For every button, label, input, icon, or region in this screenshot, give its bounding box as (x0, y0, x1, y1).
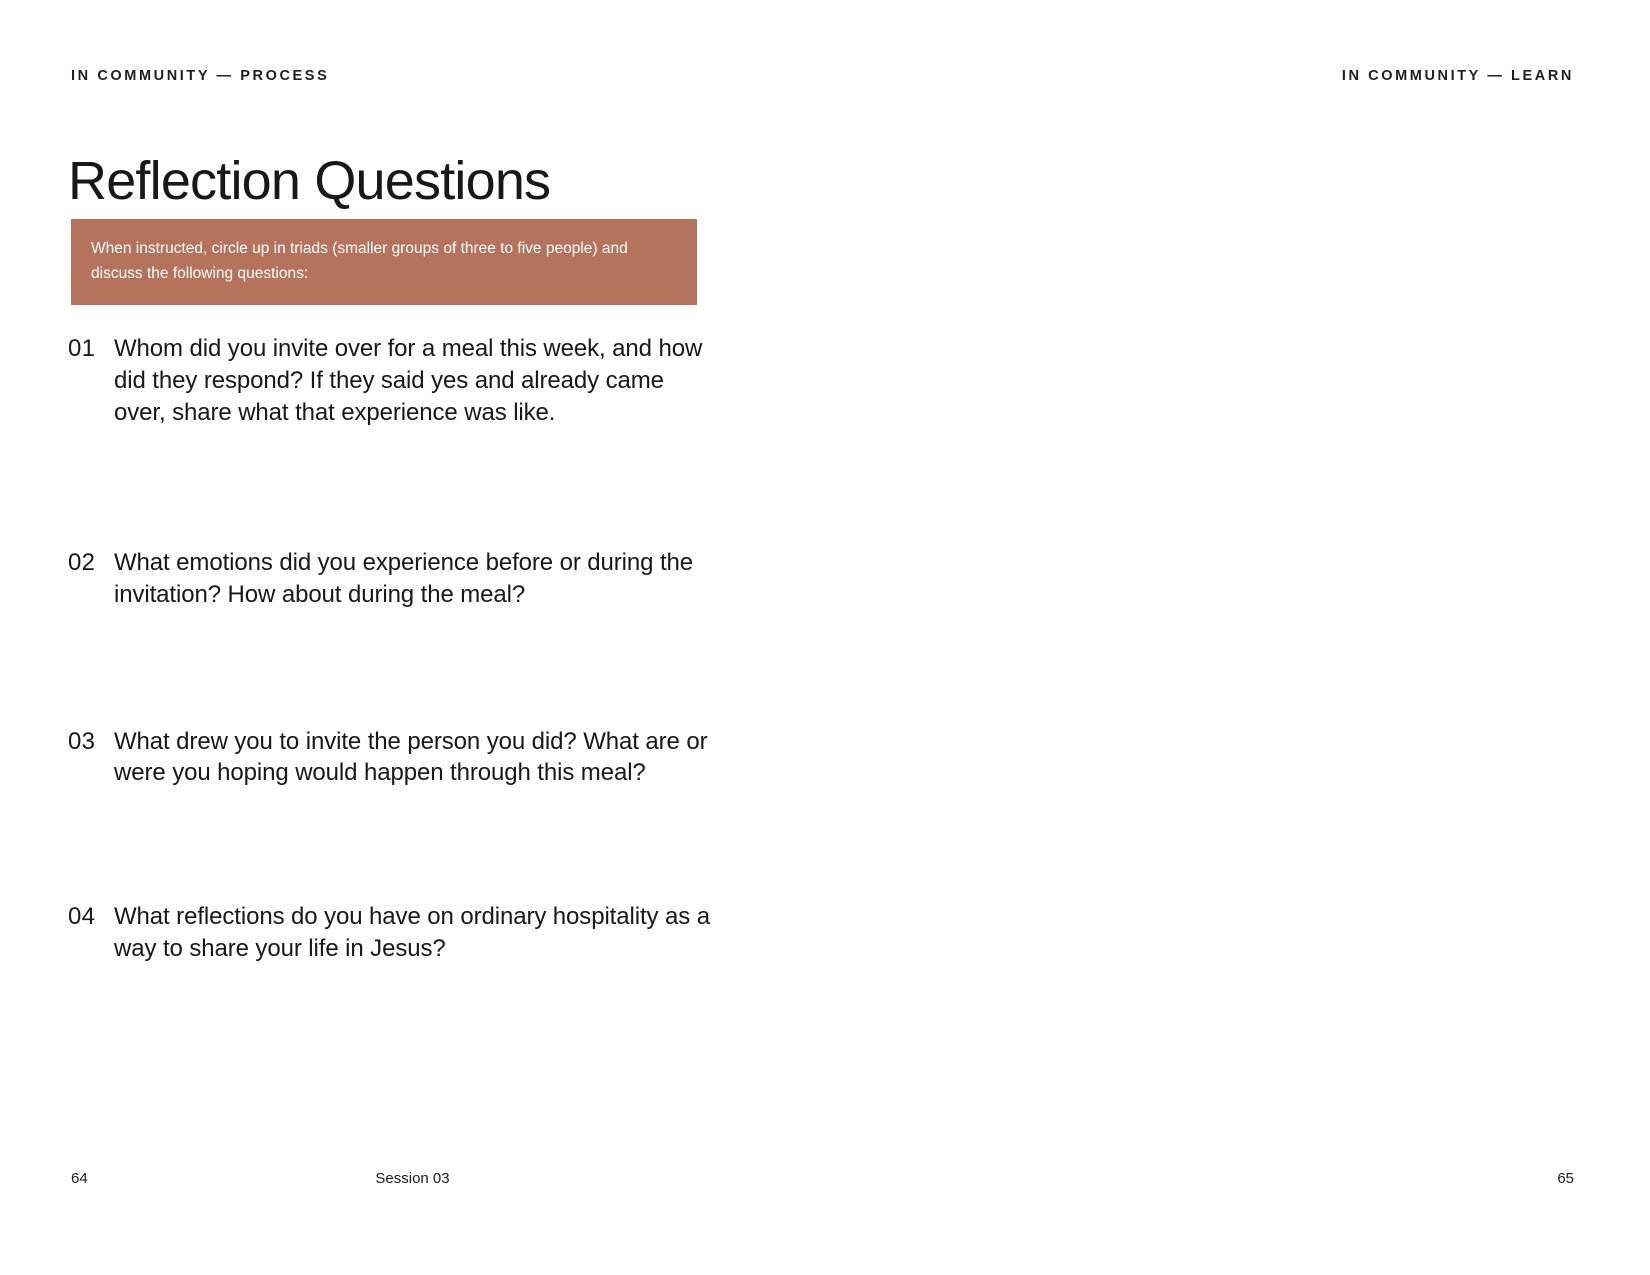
footer-session-label: Session 03 (0, 1170, 825, 1187)
reflection-question-item: 04 What reflections do you have on ordin… (68, 901, 718, 965)
question-text: What drew you to invite the person you d… (114, 726, 714, 790)
question-answer-space (68, 789, 718, 901)
question-text: What emotions did you experience before … (114, 547, 714, 611)
reflection-question-item: 01 Whom did you invite over for a meal t… (68, 333, 718, 429)
left-page: IN COMMUNITY — PROCESS Reflection Questi… (0, 0, 825, 1275)
question-number: 02 (68, 547, 114, 579)
reflection-questions-list: 01 Whom did you invite over for a meal t… (68, 333, 718, 965)
running-head-left: IN COMMUNITY — PROCESS (71, 68, 329, 84)
running-head-right: IN COMMUNITY — LEARN (1342, 68, 1574, 84)
question-answer-space (68, 611, 718, 726)
question-text: What reflections do you have on ordinary… (114, 901, 714, 965)
page-number-right: 65 (1557, 1170, 1574, 1187)
reflection-question-item: 02 What emotions did you experience befo… (68, 547, 718, 611)
question-number: 01 (68, 333, 114, 365)
question-number: 04 (68, 901, 114, 933)
instruction-callout: When instructed, circle up in triads (sm… (71, 219, 697, 305)
page-title-reflection-questions: Reflection Questions (68, 152, 550, 211)
book-spread: IN COMMUNITY — PROCESS Reflection Questi… (0, 0, 1650, 1275)
question-answer-space (68, 429, 718, 547)
right-page: IN COMMUNITY — LEARN Teaching Key Script… (825, 0, 1650, 1275)
question-text: Whom did you invite over for a meal this… (114, 333, 714, 429)
question-number: 03 (68, 726, 114, 758)
reflection-question-item: 03 What drew you to invite the person yo… (68, 726, 718, 790)
